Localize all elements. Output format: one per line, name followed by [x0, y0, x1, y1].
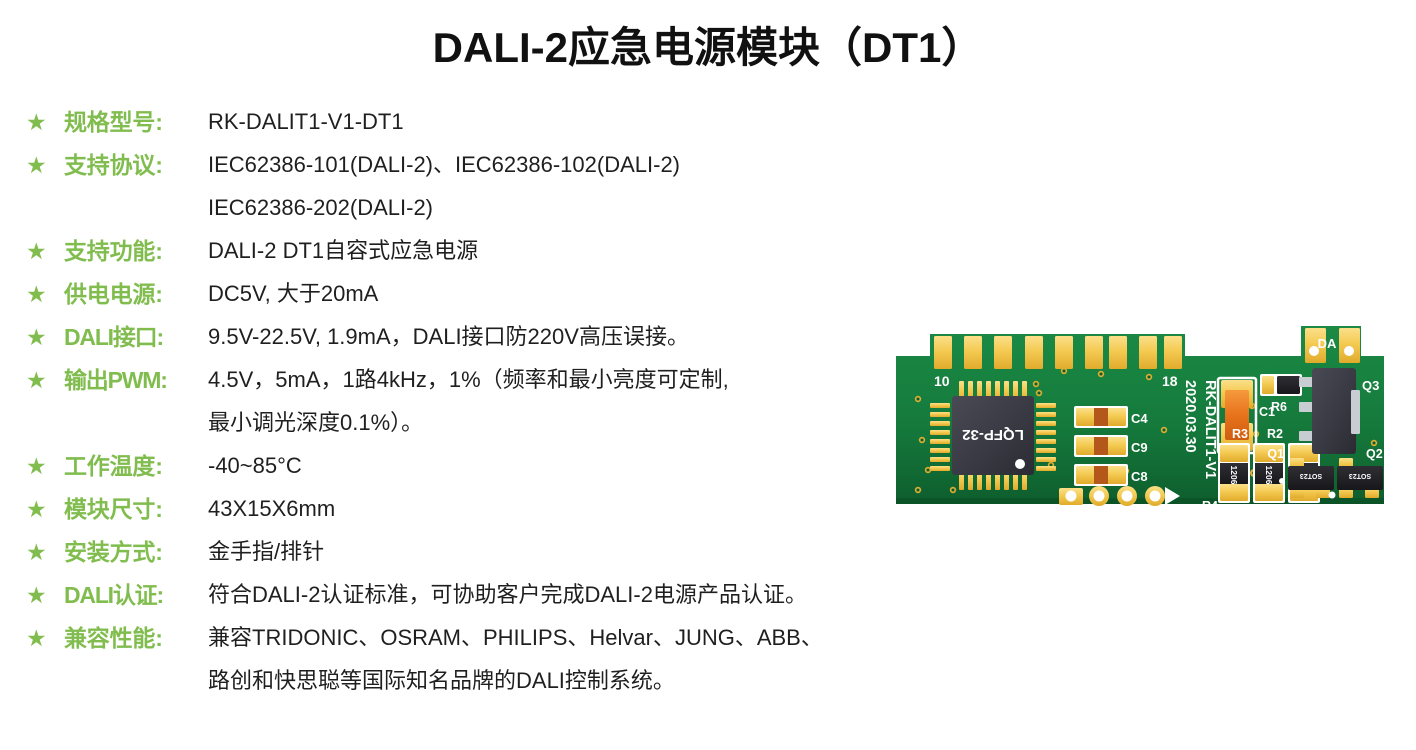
- spec-value: 4.5V，5mA，1路4kHz，1%（频率和最小亮度可定制,: [208, 360, 886, 400]
- star-bullet-icon: ★: [26, 274, 56, 314]
- resistor-code-1: 1206: [1229, 466, 1239, 485]
- spec-label: DALI接口:: [64, 317, 208, 357]
- spec-row: ★ 支持功能: DALI-2 DT1自容式应急电源: [26, 231, 886, 274]
- spec-value-continued: IEC62386-202(DALI-2): [208, 188, 886, 231]
- spec-value: 符合DALI-2认证标准，可协助客户完成DALI-2电源产品认证。: [208, 575, 886, 615]
- designator-r2: R2: [1267, 427, 1283, 441]
- star-bullet-icon: ★: [26, 317, 56, 357]
- spec-list: ★ 规格型号: RK-DALIT1-V1-DT1 ★ 支持协议: IEC6238…: [26, 102, 886, 704]
- designator-q2: Q2: [1366, 447, 1383, 461]
- designator-c9: C9: [1131, 440, 1148, 455]
- spec-row: ★ 模块尺寸: 43X15X6mm: [26, 489, 886, 532]
- spec-value: DC5V, 大于20mA: [208, 274, 886, 314]
- pcb-product-image: DA 10 18: [896, 318, 1396, 523]
- spec-label: 兼容性能:: [64, 618, 208, 658]
- spec-label: 支持功能:: [64, 231, 208, 271]
- transistor-code-2: SOT23: [1349, 472, 1371, 479]
- spec-label: 供电电源:: [64, 274, 208, 314]
- spec-value: 兼容TRIDONIC、OSRAM、PHILIPS、Helvar、JUNG、ABB…: [208, 618, 886, 658]
- designator-r3: R3: [1232, 427, 1248, 441]
- spec-label: 模块尺寸:: [64, 489, 208, 529]
- spec-label: 工作温度:: [64, 446, 208, 486]
- silkscreen-part-number: RK-DALIT1-V1: [1202, 380, 1218, 479]
- spec-continuation-row: 最小调光深度0.1%）。: [26, 403, 886, 446]
- star-bullet-icon: ★: [26, 489, 56, 529]
- passive-components-c4-c9-c8: C4 C9 C8: [1074, 406, 1148, 486]
- gold-finger-pads: [934, 336, 1182, 369]
- transistor-code-1: SOT23: [1300, 472, 1322, 479]
- designator-q1: Q1: [1267, 447, 1284, 461]
- spacer: [26, 661, 208, 704]
- star-bullet-icon: ★: [26, 446, 56, 486]
- page-title: DALI-2应急电源模块（DT1）: [0, 14, 1416, 75]
- silkscreen-pin-10: 10: [934, 373, 950, 389]
- star-bullet-icon: ★: [26, 618, 56, 658]
- spec-value: RK-DALIT1-V1-DT1: [208, 102, 886, 142]
- spacer: [26, 403, 208, 446]
- spec-value: 9.5V-22.5V, 1.9mA，DALI接口防220V高压误接。: [208, 317, 886, 357]
- spec-row: ★ 规格型号: RK-DALIT1-V1-DT1: [26, 102, 886, 145]
- star-bullet-icon: ★: [26, 360, 56, 400]
- spec-row: ★ 输出PWM: 4.5V，5mA，1路4kHz，1%（频率和最小亮度可定制,: [26, 360, 886, 403]
- spec-value: 金手指/排针: [208, 532, 886, 572]
- spec-value-continued: 最小调光深度0.1%）。: [208, 403, 886, 446]
- silkscreen-pin-18: 18: [1162, 373, 1178, 389]
- spec-continuation-row: IEC62386-202(DALI-2): [26, 188, 886, 231]
- spec-label: DALI认证:: [64, 575, 208, 615]
- spec-row: ★ DALI认证: 符合DALI-2认证标准，可协助客户完成DALI-2电源产品…: [26, 575, 886, 618]
- spec-continuation-row: 路创和快思聪等国际知名品牌的DALI控制系统。: [26, 661, 886, 704]
- spec-row: ★ 供电电源: DC5V, 大于20mA: [26, 274, 886, 317]
- designator-q3: Q3: [1362, 378, 1379, 393]
- spec-value-continued: 路创和快思聪等国际知名品牌的DALI控制系统。: [208, 661, 886, 704]
- spec-row: ★ 兼容性能: 兼容TRIDONIC、OSRAM、PHILIPS、Helvar、…: [26, 618, 886, 661]
- resistor-code-2: 1206: [1264, 466, 1274, 485]
- silkscreen-da-label: DA: [1318, 336, 1337, 351]
- spec-label: 安装方式:: [64, 532, 208, 572]
- spec-row: ★ 安装方式: 金手指/排针: [26, 532, 886, 575]
- spacer: [26, 188, 208, 231]
- designator-r6: R6: [1271, 400, 1287, 414]
- spec-label: 输出PWM:: [64, 360, 208, 400]
- star-bullet-icon: ★: [26, 145, 56, 185]
- chip-marking-label: LQFP-32: [962, 426, 1024, 443]
- star-bullet-icon: ★: [26, 231, 56, 271]
- star-bullet-icon: ★: [26, 532, 56, 572]
- star-bullet-icon: ★: [26, 102, 56, 142]
- spec-label: 支持协议:: [64, 145, 208, 185]
- star-bullet-icon: ★: [26, 575, 56, 615]
- designator-c8: C8: [1131, 469, 1148, 484]
- spec-label: 规格型号:: [64, 102, 208, 142]
- spec-value: 43X15X6mm: [208, 489, 886, 529]
- designator-r4: R4: [1202, 499, 1218, 513]
- spec-value: DALI-2 DT1自容式应急电源: [208, 231, 886, 271]
- spec-value: IEC62386-101(DALI-2)、IEC62386-102(DALI-2…: [208, 145, 886, 185]
- spec-value: -40~85°C: [208, 446, 886, 486]
- designator-c4: C4: [1131, 411, 1148, 426]
- spec-row: ★ 工作温度: -40~85°C: [26, 446, 886, 489]
- spec-row: ★ DALI接口: 9.5V-22.5V, 1.9mA，DALI接口防220V高…: [26, 317, 886, 360]
- silkscreen-date-code: 2020.03.30: [1182, 380, 1198, 453]
- spec-row: ★ 支持协议: IEC62386-101(DALI-2)、IEC62386-10…: [26, 145, 886, 188]
